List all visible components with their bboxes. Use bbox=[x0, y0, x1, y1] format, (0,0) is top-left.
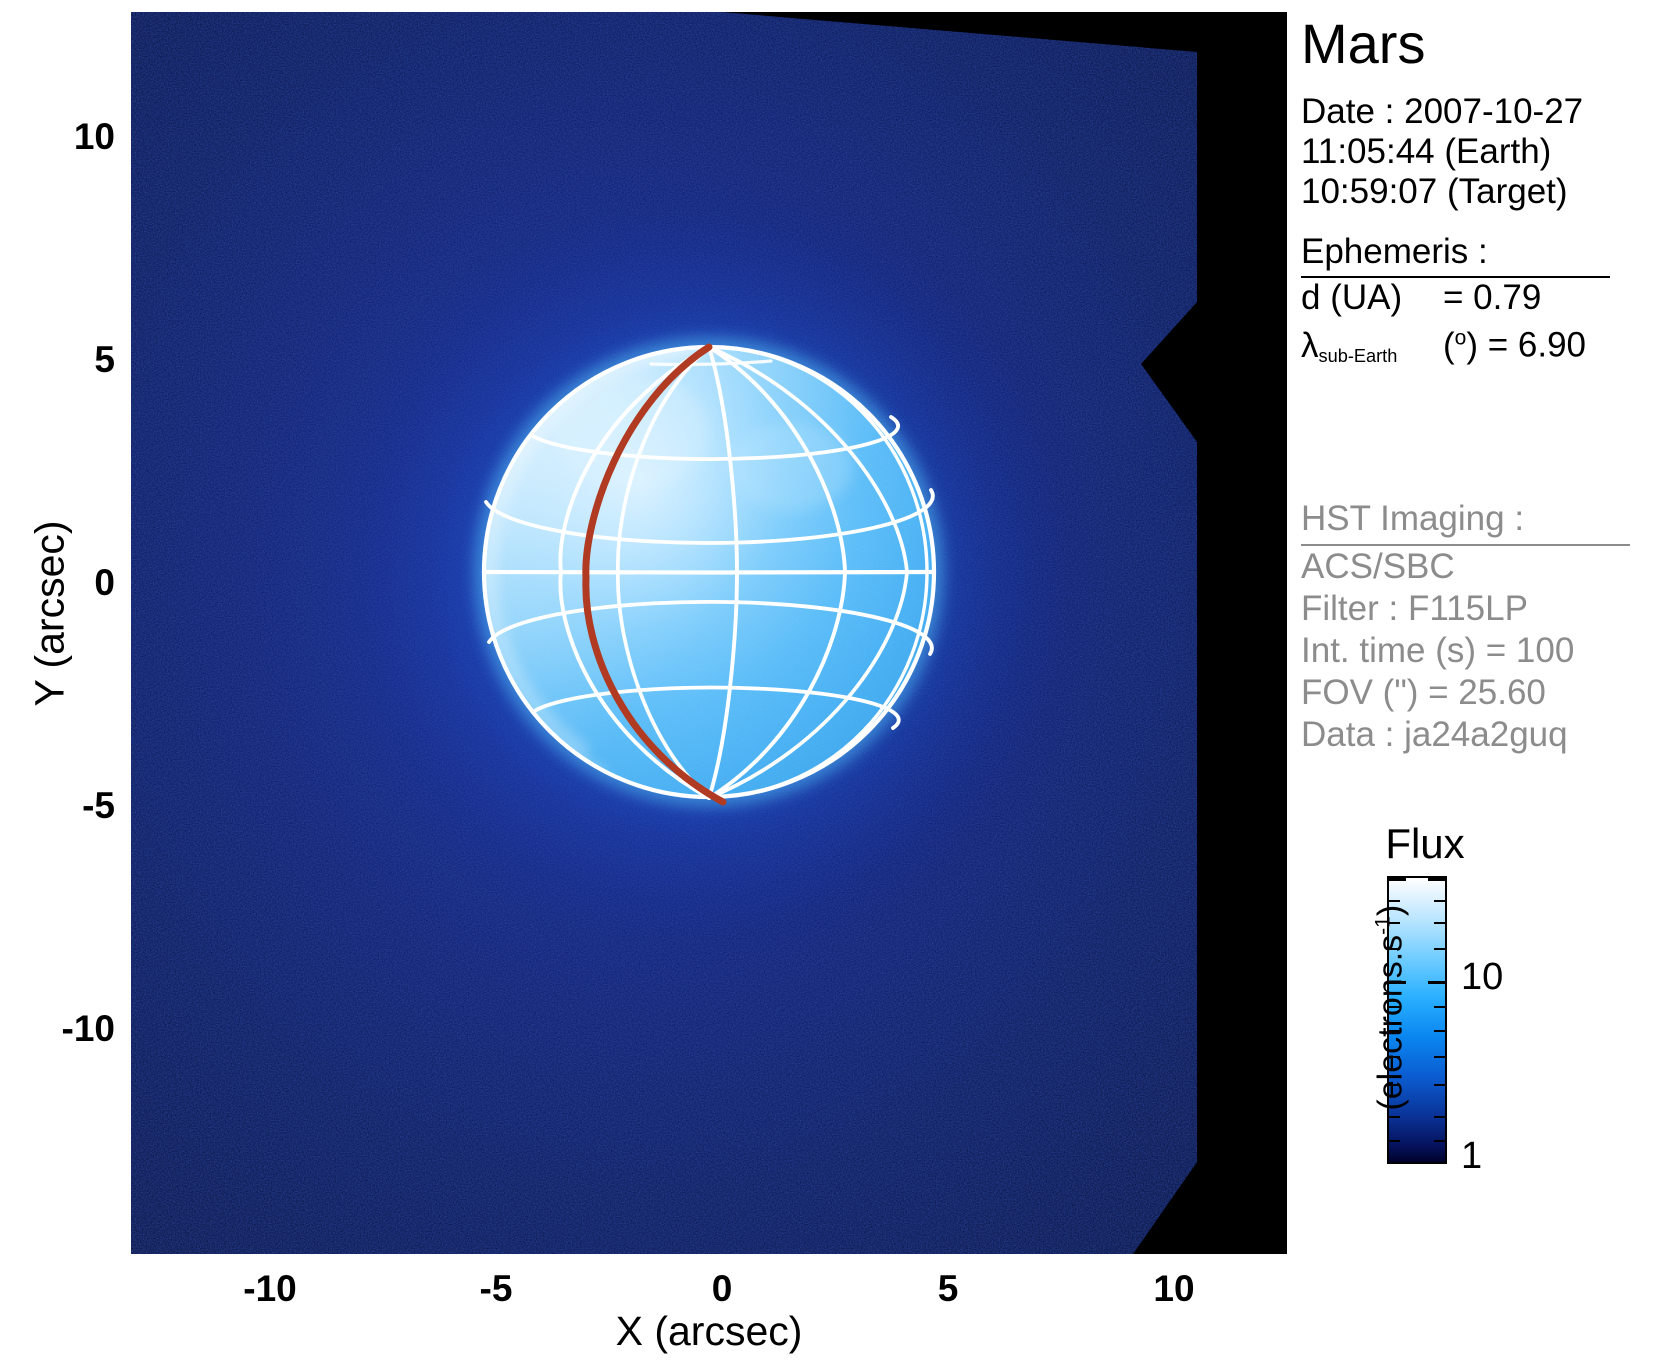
instrument-detector: ACS/SBC bbox=[1301, 546, 1630, 588]
mars-uv-image bbox=[131, 12, 1287, 1254]
ephemeris-latitude-key: λsub-Earth bbox=[1301, 326, 1443, 371]
colorbar-tick-label-10: 10 bbox=[1461, 956, 1503, 999]
colorbar-tick bbox=[1434, 1084, 1445, 1086]
lambda-subscript: sub-Earth bbox=[1319, 346, 1398, 366]
sky-image-panel[interactable] bbox=[131, 12, 1287, 1254]
ephemeris-heading: Ephemeris : bbox=[1301, 232, 1610, 278]
x-axis-label: X (arcsec) bbox=[0, 1308, 1418, 1355]
instrument-fov: FOV (") = 25.60 bbox=[1301, 672, 1630, 714]
detector-field bbox=[131, 12, 1287, 1254]
colorbar-tick bbox=[1434, 922, 1445, 924]
ytick-label-minus10: -10 bbox=[0, 1008, 115, 1050]
instrument-heading: HST Imaging : bbox=[1301, 498, 1630, 546]
page-title: Mars bbox=[1301, 14, 1425, 74]
colorbar-title: Flux bbox=[1335, 820, 1515, 868]
degree-symbol: o bbox=[1455, 326, 1467, 349]
instrument-dataset-id: Data : ja24a2guq bbox=[1301, 714, 1630, 756]
ytick-label-minus5: -5 bbox=[0, 785, 115, 827]
colorbar-tick-major bbox=[1428, 981, 1445, 984]
figure-root: 10 5 0 -5 -10 -10 -5 0 5 10 X (arcsec) Y… bbox=[0, 0, 1677, 1367]
colorbar: Flux bbox=[1297, 820, 1677, 1240]
observation-time-earth: 11:05:44 (Earth) bbox=[1301, 132, 1551, 171]
ephemeris-distance-value: = 0.79 bbox=[1443, 278, 1541, 317]
colorbar-tick-label-1: 1 bbox=[1461, 1135, 1482, 1178]
colorbar-tick bbox=[1428, 878, 1445, 881]
observation-time-target: 10:59:07 (Target) bbox=[1301, 172, 1568, 211]
ephemeris-latitude-row: λsub-Earth(o) = 6.90 bbox=[1301, 318, 1610, 371]
colorbar-tick bbox=[1434, 1030, 1445, 1032]
colorbar-unit-label: (electrons.s-1) bbox=[1371, 858, 1410, 1158]
ephemeris-distance-key: d (UA) bbox=[1301, 278, 1443, 318]
xtick-label-minus5: -5 bbox=[436, 1268, 556, 1310]
ephemeris-latitude-value: = 6.90 bbox=[1488, 326, 1586, 365]
instrument-filter: Filter : F115LP bbox=[1301, 588, 1630, 630]
xtick-label-minus10: -10 bbox=[210, 1268, 330, 1310]
instrument-integration-time: Int. time (s) = 100 bbox=[1301, 630, 1630, 672]
colorbar-unit-exponent: -1 bbox=[1371, 916, 1394, 935]
colorbar-unit-suffix: ) bbox=[1372, 905, 1410, 916]
colorbar-tick bbox=[1434, 1056, 1445, 1058]
colorbar-tick bbox=[1434, 948, 1445, 950]
observation-date-block: Date : 2007-10-27 11:05:44 (Earth) 10:59… bbox=[1301, 92, 1583, 212]
colorbar-unit-prefix: (electrons.s bbox=[1372, 935, 1410, 1111]
ytick-label-10: 10 bbox=[0, 116, 115, 158]
observation-date: Date : 2007-10-27 bbox=[1301, 92, 1583, 131]
xtick-label-0: 0 bbox=[662, 1268, 782, 1310]
colorbar-tick bbox=[1434, 1140, 1445, 1142]
ephemeris-latitude-unit: (o) bbox=[1443, 326, 1478, 365]
xtick-label-10: 10 bbox=[1114, 1268, 1234, 1310]
colorbar-tick bbox=[1434, 1116, 1445, 1118]
info-sidebar: Mars Date : 2007-10-27 11:05:44 (Earth) … bbox=[1297, 0, 1677, 1367]
lambda-symbol: λ bbox=[1301, 326, 1319, 365]
instrument-block: HST Imaging : ACS/SBC Filter : F115LP In… bbox=[1301, 498, 1630, 756]
ephemeris-distance-row: d (UA)= 0.79 bbox=[1301, 278, 1610, 318]
ephemeris-block: Ephemeris : d (UA)= 0.79 λsub-Earth(o) =… bbox=[1301, 232, 1610, 371]
colorbar-tick bbox=[1434, 1006, 1445, 1008]
ytick-label-5: 5 bbox=[0, 339, 115, 381]
xtick-label-5: 5 bbox=[888, 1268, 1008, 1310]
y-axis-label: Y (arcsec) bbox=[27, 444, 74, 784]
colorbar-tick bbox=[1434, 900, 1445, 902]
